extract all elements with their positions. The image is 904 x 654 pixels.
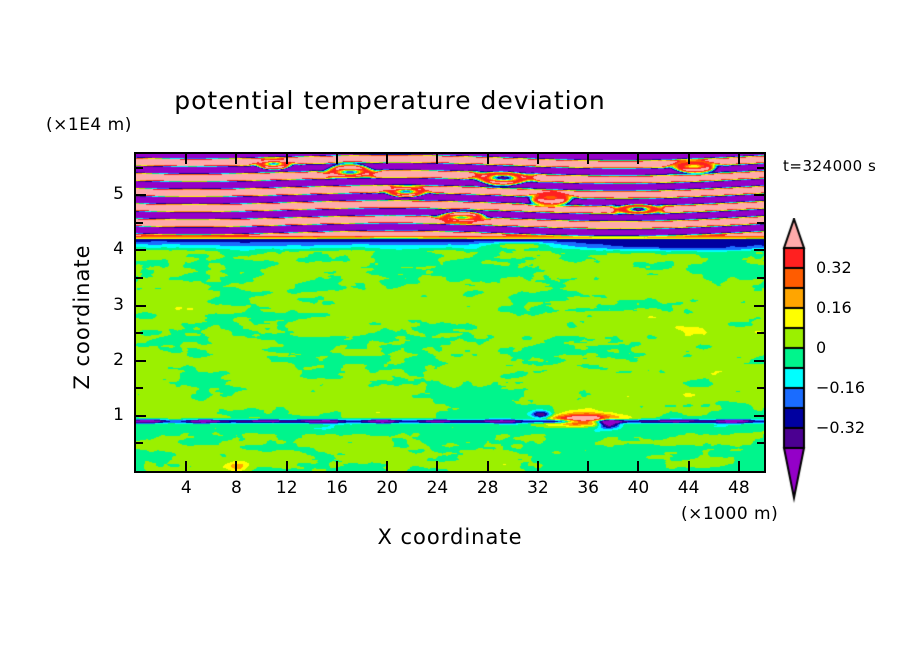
x-tickmark — [286, 154, 288, 164]
x-tickmark — [738, 154, 740, 164]
x-tick-label: 12 — [267, 478, 307, 498]
x-tick-label: 44 — [669, 478, 709, 498]
x-tickmark — [487, 154, 489, 164]
x-tickmark — [738, 461, 740, 471]
x-tick-label: 4 — [166, 478, 206, 498]
y-tick-label: 3 — [98, 295, 124, 315]
x-tickmark — [336, 461, 338, 471]
y-minor-tickmark — [757, 387, 764, 389]
x-tickmark — [688, 154, 690, 164]
x-tickmark — [235, 461, 237, 471]
colorbar-tick-label: 0.32 — [816, 258, 852, 277]
y-tick-label: 1 — [98, 405, 124, 425]
y-tick-label: 4 — [98, 239, 124, 259]
page-title: potential temperature deviation — [0, 86, 780, 115]
time-annotation: t=324000 s — [783, 157, 876, 175]
x-tick-label: 48 — [719, 478, 759, 498]
x-tickmark — [637, 461, 639, 471]
y-tickmark — [754, 360, 764, 362]
y-minor-tickmark — [757, 332, 764, 334]
x-tick-label: 28 — [468, 478, 508, 498]
y-tick-label: 2 — [98, 350, 124, 370]
y-minor-tickmark — [136, 387, 143, 389]
x-tick-label: 24 — [417, 478, 457, 498]
x-tick-label: 8 — [216, 478, 256, 498]
x-tick-label: 40 — [618, 478, 658, 498]
x-axis-units-label: (×1000 m) — [681, 504, 778, 524]
x-tickmark — [185, 461, 187, 471]
x-tick-label: 20 — [367, 478, 407, 498]
contour-plot-figure: potential temperature deviation (×1E4 m)… — [0, 0, 904, 654]
y-minor-tickmark — [757, 442, 764, 444]
x-tick-label: 36 — [568, 478, 608, 498]
x-tickmark — [637, 154, 639, 164]
x-tickmark — [185, 154, 187, 164]
y-tickmark — [136, 305, 146, 307]
x-tickmark — [235, 154, 237, 164]
y-tickmark — [754, 194, 764, 196]
y-minor-tickmark — [136, 222, 143, 224]
x-tickmark — [386, 154, 388, 164]
x-tickmark — [587, 154, 589, 164]
y-axis-units-label: (×1E4 m) — [46, 115, 132, 135]
colorbar — [776, 218, 820, 538]
x-tickmark — [688, 461, 690, 471]
colorbar-tick-label: −0.16 — [816, 378, 865, 397]
y-minor-tickmark — [757, 167, 764, 169]
y-tick-label: 5 — [98, 184, 124, 204]
y-minor-tickmark — [136, 277, 143, 279]
x-axis-title: X coordinate — [134, 525, 766, 549]
colorbar-tick-label: 0.16 — [816, 298, 852, 317]
x-tickmark — [336, 154, 338, 164]
x-tickmark — [436, 154, 438, 164]
y-tickmark — [136, 194, 146, 196]
x-tickmark — [537, 461, 539, 471]
y-tickmark — [754, 249, 764, 251]
x-tickmark — [436, 461, 438, 471]
contour-field-canvas — [136, 154, 764, 471]
x-tickmark — [386, 461, 388, 471]
y-minor-tickmark — [136, 167, 143, 169]
colorbar-tick-label: −0.32 — [816, 418, 865, 437]
x-tick-label: 32 — [518, 478, 558, 498]
y-tickmark — [136, 360, 146, 362]
y-tickmark — [754, 415, 764, 417]
x-tick-label: 16 — [317, 478, 357, 498]
x-tickmark — [286, 461, 288, 471]
y-tickmark — [754, 305, 764, 307]
y-tickmark — [136, 249, 146, 251]
plot-area — [134, 152, 766, 473]
y-tickmark — [136, 415, 146, 417]
x-tickmark — [487, 461, 489, 471]
x-tickmark — [537, 154, 539, 164]
y-minor-tickmark — [757, 277, 764, 279]
y-minor-tickmark — [757, 222, 764, 224]
y-axis-title: Z coordinate — [70, 217, 94, 417]
colorbar-tick-label: 0 — [816, 338, 826, 357]
x-tickmark — [587, 461, 589, 471]
y-minor-tickmark — [136, 332, 143, 334]
y-minor-tickmark — [136, 442, 143, 444]
